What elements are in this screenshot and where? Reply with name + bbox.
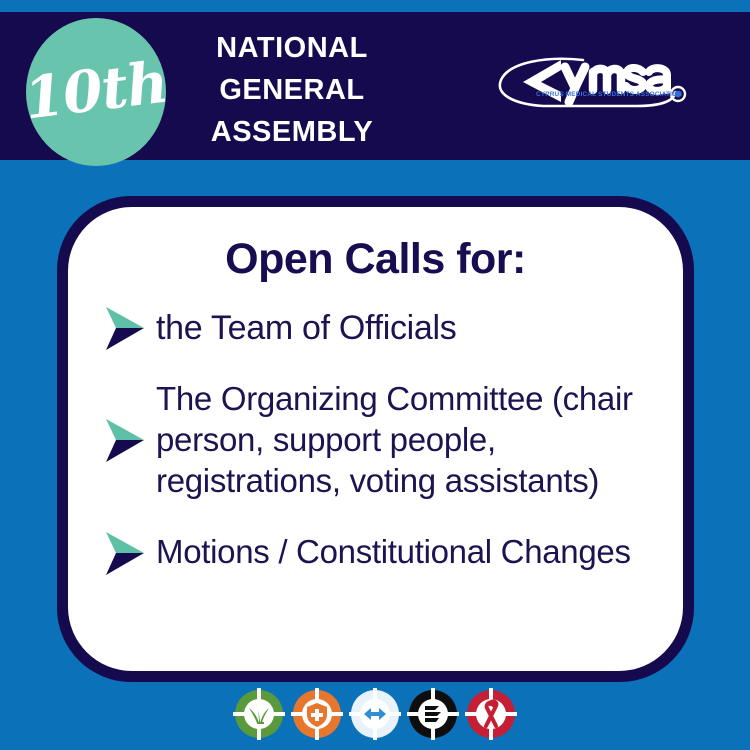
scora-sexual-reproductive-health-icon: [465, 688, 517, 740]
committee-icon-row: [0, 688, 750, 740]
cymsa-logo-subtitle: CYPRUS MEDICAL STUDENTS ASSOCIATION: [535, 91, 683, 98]
open-calls-card-inner: Open Calls for: the Team of Officials: [68, 207, 683, 671]
score-research-exchange-icon: [291, 688, 343, 740]
list-item: Motions / Constitutional Changes: [102, 528, 665, 578]
scoph-public-health-icon: [233, 688, 285, 740]
event-title-line-2: GENERAL: [178, 70, 406, 112]
list-item-label: the Team of Officials: [156, 307, 456, 349]
cymsa-logo-mark: [487, 54, 692, 112]
open-calls-card: Open Calls for: the Team of Officials: [57, 196, 694, 682]
list-item-label: Motions / Constitutional Changes: [156, 532, 631, 573]
event-title: NATIONAL GENERAL ASSEMBLY: [178, 28, 406, 153]
list-item-label: The Organizing Committee (chair person, …: [156, 379, 665, 502]
event-title-line-1: NATIONAL: [178, 28, 406, 70]
open-calls-list: the Team of Officials The Organizing Com…: [102, 303, 665, 578]
anniversary-badge: 10th: [26, 18, 166, 166]
scome-medical-education-icon: [407, 688, 459, 740]
event-title-line-3: ASSEMBLY: [178, 112, 406, 154]
list-item: the Team of Officials: [102, 303, 665, 353]
cymsa-logo: CYPRUS MEDICAL STUDENTS ASSOCIATION: [487, 54, 692, 112]
arrow-bullet-icon: [102, 303, 148, 353]
anniversary-badge-label: 10th: [18, 10, 175, 174]
arrow-bullet-icon: [102, 528, 148, 578]
poster: 10th NATIONAL GENERAL ASSEMBLY CYPRUS ME…: [0, 0, 750, 750]
list-item: The Organizing Committee (chair person, …: [102, 379, 665, 502]
card-title: Open Calls for:: [68, 235, 683, 284]
arrow-bullet-icon: [102, 415, 148, 465]
scope-professional-exchange-icon: [349, 688, 401, 740]
